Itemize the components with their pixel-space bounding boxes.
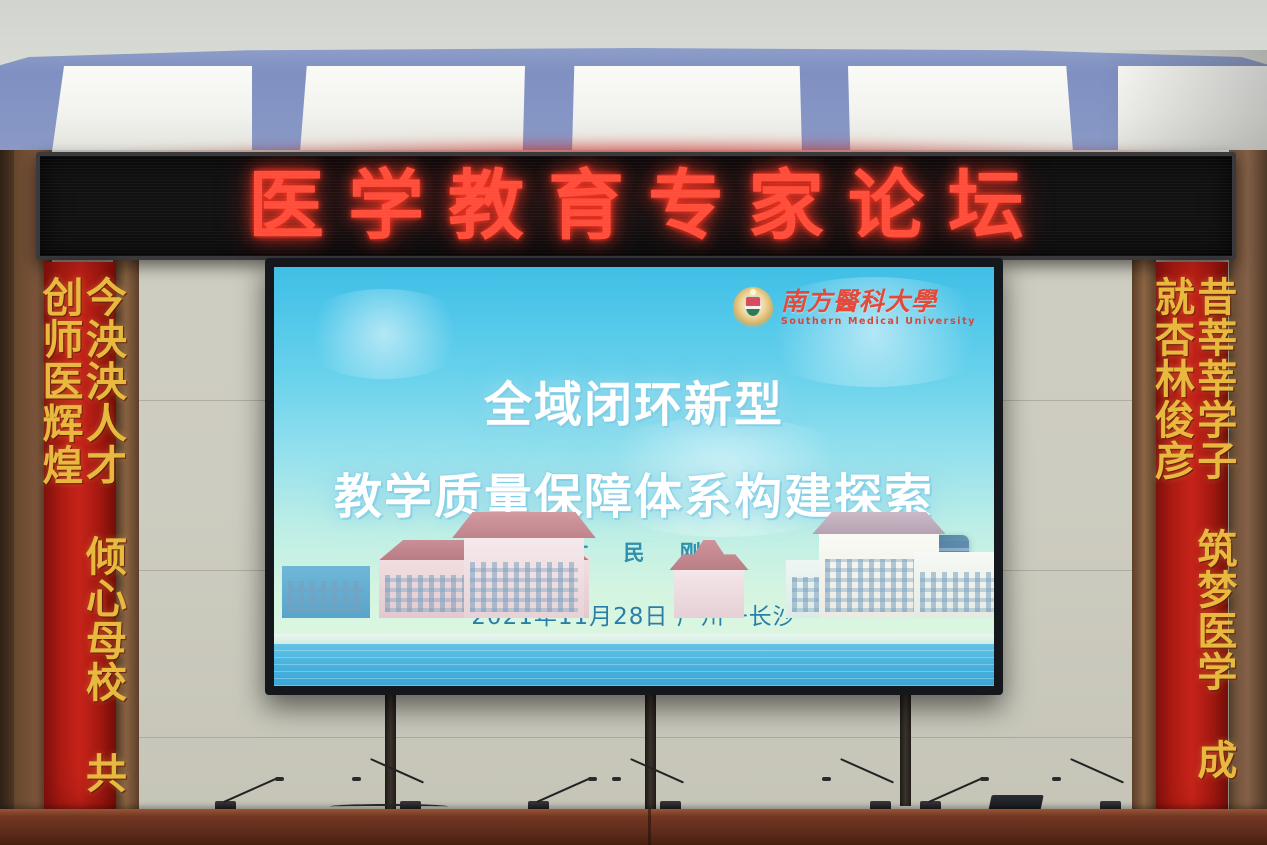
wall-seam: [115, 737, 1155, 738]
microphone-capsule: [352, 777, 361, 781]
logo-wordmark: 南方醫科大學 Southern Medical University: [781, 289, 976, 327]
microphone-capsule: [1052, 777, 1061, 781]
university-crest-icon: [733, 287, 773, 329]
left-red-couplet-banner: 今泱泱人才 倾心母校 共创师医辉煌: [44, 262, 116, 810]
conference-hall-photo: 医学教育专家论坛 今泱泱人才 倾心母校 共创师医辉煌 昔莘莘学子 筑梦医学 成就…: [0, 0, 1267, 845]
podium-seam: [648, 809, 651, 845]
logo-english-name: Southern Medical University: [781, 317, 976, 327]
microphone-capsule: [980, 777, 989, 781]
microphone-capsule: [822, 777, 831, 781]
left-couplet-text: 今泱泱人才 倾心母校 共创师医辉煌: [37, 276, 124, 796]
crest-star-icon: [750, 289, 756, 295]
slide-canvas: 南方醫科大學 Southern Medical University 全域闭环新…: [274, 267, 994, 686]
led-marquee-text: 医学教育专家论坛: [224, 168, 1048, 244]
campus-panorama-illustration: [274, 566, 994, 686]
right-red-couplet-banner: 昔莘莘学子 筑梦医学 成就杏林俊彦: [1156, 262, 1228, 822]
screen-support-post: [645, 694, 656, 812]
building-windows: [470, 562, 578, 612]
campus-lake: [274, 644, 994, 686]
crest-shield: [745, 296, 761, 317]
logo-chinese-name: 南方醫科大學: [781, 289, 976, 314]
microphone-capsule: [275, 777, 284, 781]
left-wood-pillar-edge: [0, 150, 14, 845]
led-marquee-sign: 医学教育专家论坛: [36, 152, 1236, 260]
slide-title-line-1: 全域闭环新型: [274, 365, 994, 435]
university-logo: 南方醫科大學 Southern Medical University: [733, 287, 976, 329]
podium-top-edge: [0, 809, 1267, 816]
screen-support-post: [900, 694, 911, 806]
campus-treeline: [274, 606, 994, 636]
podium-desk: [0, 809, 1267, 845]
screen-support-post: [385, 694, 396, 812]
presentation-screen: 南方醫科大學 Southern Medical University 全域闭环新…: [265, 258, 1003, 695]
microphone-capsule: [612, 777, 621, 781]
right-couplet-text: 昔莘莘学子 筑梦医学 成就杏林俊彦: [1150, 276, 1235, 810]
microphone-capsule: [588, 777, 597, 781]
ceiling: [0, 0, 1267, 160]
